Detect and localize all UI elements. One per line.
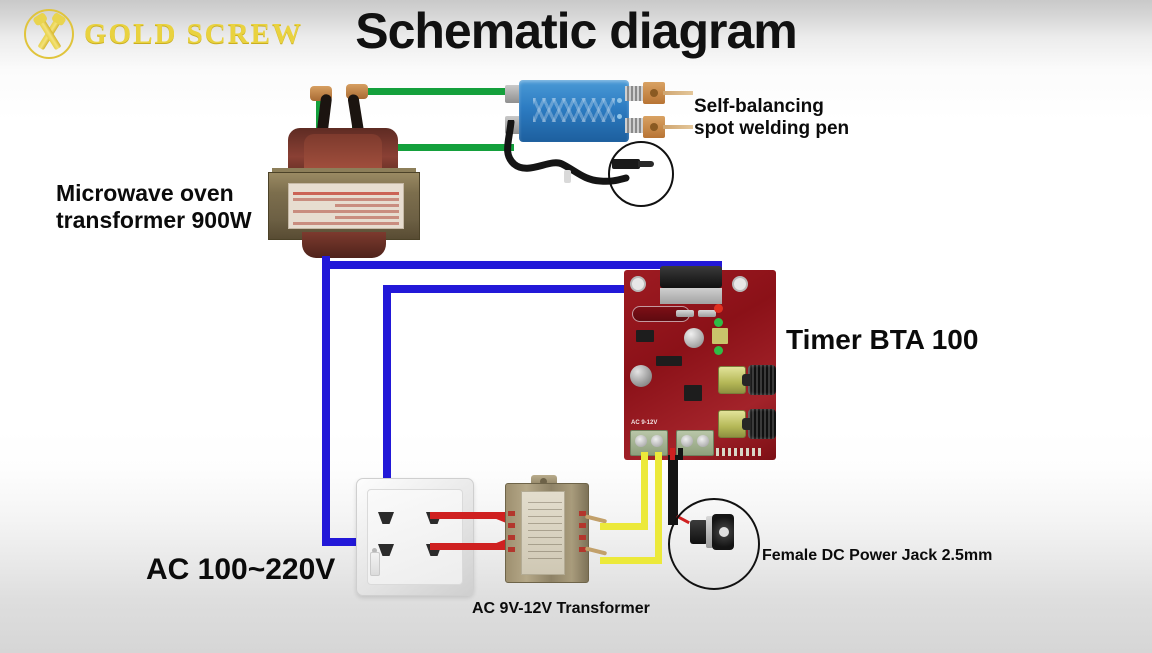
- mot-core-bottom: [302, 232, 386, 258]
- schematic-canvas: GOLD SCREW Schematic diagram: [0, 0, 1152, 653]
- xfmr-secondary-pin-2: [579, 523, 586, 528]
- dc-jack-highlight-circle: [668, 498, 760, 590]
- blue-wire-second-horizontal: [383, 285, 640, 293]
- pcb-resistor-1: [676, 310, 694, 317]
- blue-wire-left-vertical: [322, 256, 330, 546]
- yellow-wire-lower-horizontal: [600, 557, 662, 564]
- pcb-led-green-1: [714, 318, 723, 327]
- pcb-knob-1[interactable]: [748, 365, 776, 395]
- pcb-pin-header: [716, 448, 764, 456]
- label-dc-power-jack: Female DC Power Jack 2.5mm: [762, 547, 992, 566]
- pcb-ic-4: [712, 328, 728, 344]
- socket-switch[interactable]: [370, 552, 380, 576]
- pcb-terminal-ac-input: [630, 430, 668, 456]
- xfmr-primary-pin-4: [508, 547, 515, 552]
- yellow-wire-lower-vertical: [655, 452, 662, 562]
- yellow-wire-upper-vertical: [641, 452, 648, 524]
- label-ac-mains: AC 100~220V: [146, 553, 335, 588]
- pen-electrode-tip-top: [663, 91, 693, 95]
- label-spot-welding-pen: Self-balancing spot welding pen: [694, 96, 849, 140]
- pcb-ic-3: [684, 385, 702, 401]
- pcb-mount-hole-left: [630, 276, 646, 292]
- pcb-relay: [660, 266, 722, 288]
- label-microwave-transformer: Microwave oven transformer 900W: [56, 180, 252, 233]
- pcb-heatsink: [660, 288, 722, 304]
- microwave-oven-transformer: [268, 128, 420, 254]
- yellow-wire-upper-horizontal: [600, 523, 648, 530]
- pcb-knob-2[interactable]: [748, 409, 776, 439]
- pcb-led-red-1: [714, 304, 723, 313]
- pen-pattern-icon: [533, 98, 615, 122]
- red-lead-pcb: [670, 448, 675, 460]
- black-lead-pcb: [678, 448, 683, 460]
- label-ac-transformer: AC 9V-12V Transformer: [472, 600, 650, 619]
- xfmr-primary-pin-2: [508, 523, 515, 528]
- xfmr-primary-pin-1: [508, 511, 515, 516]
- green-wire-upper-horizontal: [352, 88, 510, 95]
- pcb-mount-hole-right: [732, 276, 748, 292]
- timer-bta-100-board: AC 9-12V: [624, 270, 776, 460]
- page-title: Schematic diagram: [0, 2, 1152, 60]
- label-timer-bta-100: Timer BTA 100: [786, 324, 978, 356]
- dc-plug-highlight-circle: [608, 141, 674, 207]
- xfmr-bobbin: [521, 491, 565, 575]
- socket-inner-panel: [367, 489, 463, 585]
- mot-warning-label: [288, 183, 404, 229]
- pcb-terminal-label: AC 9-12V: [631, 420, 657, 426]
- pcb-ic-1: [636, 330, 654, 342]
- xfmr-primary-pin-3: [508, 535, 515, 540]
- ac-9v-12v-transformer: [505, 477, 589, 587]
- ac-wall-socket[interactable]: [356, 478, 474, 596]
- pcb-capacitor-large: [630, 365, 652, 387]
- xfmr-secondary-pin-3: [579, 535, 586, 540]
- pcb-capacitor-small: [684, 328, 704, 348]
- pen-copper-arm-top: [643, 82, 665, 104]
- pcb-ic-2: [656, 356, 682, 366]
- pcb-led-green-2: [714, 346, 723, 355]
